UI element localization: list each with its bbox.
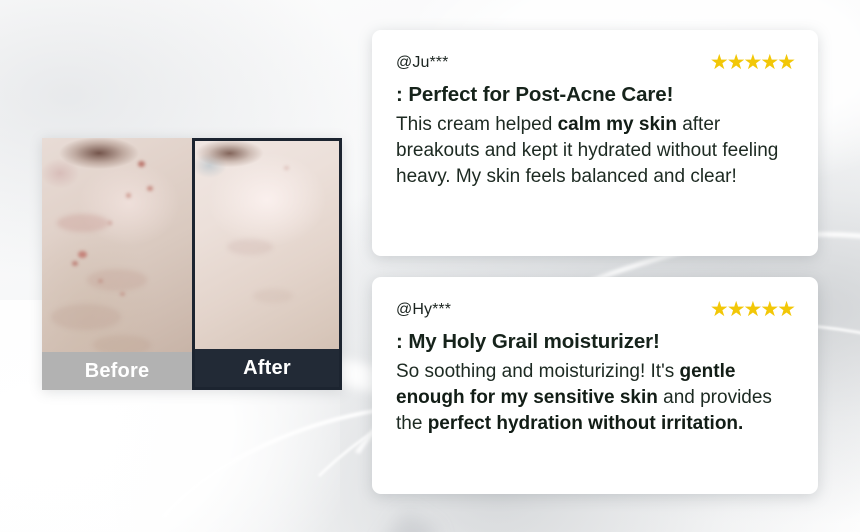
review-headline: : Perfect for Post-Acne Care! (396, 83, 794, 107)
review-header: @Ju*** ★ ★ ★ ★ ★ (396, 52, 794, 73)
before-label: Before (42, 352, 192, 390)
review-body: This cream helped calm my skin after bre… (396, 112, 794, 190)
star-icon: ★ (744, 52, 761, 73)
reviewer-handle: @Hy*** (396, 301, 451, 319)
before-after-comparison: Before After (42, 138, 342, 390)
star-icon: ★ (727, 299, 744, 320)
promo-banner: Before After @Ju*** ★ ★ ★ ★ ★ : Perfect … (0, 0, 860, 532)
review-card: @Ju*** ★ ★ ★ ★ ★ : Perfect for Post-Acne… (372, 30, 818, 256)
review-headline: : My Holy Grail moisturizer! (396, 330, 794, 354)
star-icon: ★ (777, 52, 794, 73)
reviewer-handle: @Ju*** (396, 54, 448, 72)
review-body: So soothing and moisturizing! It's gentl… (396, 359, 794, 437)
before-panel: Before (42, 138, 192, 390)
after-label: After (195, 349, 339, 387)
star-rating: ★ ★ ★ ★ ★ (710, 52, 794, 73)
star-icon: ★ (760, 52, 777, 73)
star-icon: ★ (710, 52, 727, 73)
review-card: @Hy*** ★ ★ ★ ★ ★ : My Holy Grail moistur… (372, 277, 818, 494)
star-icon: ★ (777, 299, 794, 320)
star-rating: ★ ★ ★ ★ ★ (710, 299, 794, 320)
star-icon: ★ (710, 299, 727, 320)
star-icon: ★ (744, 299, 761, 320)
star-icon: ★ (727, 52, 744, 73)
star-icon: ★ (760, 299, 777, 320)
review-header: @Hy*** ★ ★ ★ ★ ★ (396, 299, 794, 320)
after-panel: After (192, 138, 342, 390)
